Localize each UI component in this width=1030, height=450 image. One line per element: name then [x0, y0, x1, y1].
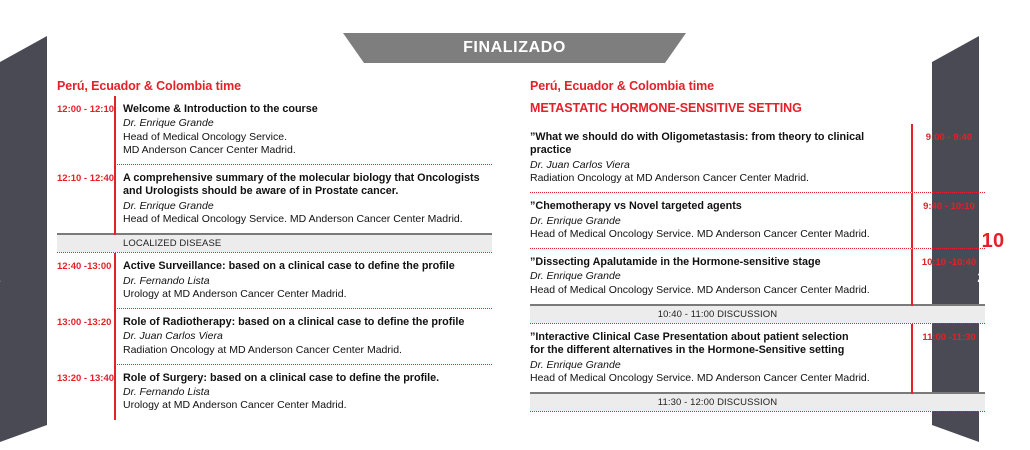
agenda-entry[interactable]: 13:00 -13:20 Role of Radiotherapy: based… — [57, 309, 492, 364]
agenda-entry[interactable]: 12:10 - 12:40 A comprehensive summary of… — [57, 165, 492, 233]
entry-time: 9:40 - 10:10 — [913, 193, 985, 248]
agenda-entry[interactable]: ”What we should do with Oligometastasis:… — [530, 124, 985, 192]
agenda-entry[interactable]: 12:00 - 12:10 Welcome & Introduction to … — [57, 96, 492, 164]
entry-speaker: Dr. Fernando Lista — [123, 386, 492, 399]
entry-title: Role of Surgery: based on a clinical cas… — [123, 372, 492, 385]
entry-time: 9:00 - 9:40 — [913, 124, 985, 192]
entry-title: Active Surveillance: based on a clinical… — [123, 260, 492, 273]
entry-speaker: Dr. Enrique Grande — [530, 270, 903, 283]
discussion-band: 10:40 - 11:00 DISCUSSION — [530, 304, 985, 323]
entry-body: Welcome & Introduction to the course Dr.… — [123, 96, 492, 164]
entry-affiliation: Head of Medical Oncology Service. MD And… — [530, 372, 903, 385]
entry-time: 11:00 -11:30 — [913, 324, 985, 392]
entry-rule — [114, 96, 116, 164]
entry-body: Role of Surgery: based on a clinical cas… — [123, 365, 492, 420]
section-band-localized-disease: LOCALIZED DISEASE — [57, 233, 492, 252]
date-tab-left-text: 9 July 2021 — [0, 230, 58, 286]
date-tab-left-day: 9 — [0, 230, 32, 252]
section-heading-metastatic: METASTATIC HORMONE-SENSITIVE SETTING — [530, 100, 985, 116]
entry-rule — [114, 165, 116, 233]
agenda-column-day-9: Perú, Ecuador & Colombia time 12:00 - 12… — [57, 78, 492, 420]
entry-speaker: Dr. Fernando Lista — [123, 275, 492, 288]
entry-time: 10:10 -10:40 — [913, 249, 985, 304]
entry-body: ”Interactive Clinical Case Presentation … — [530, 324, 911, 392]
entry-speaker: Dr. Enrique Grande — [123, 200, 492, 213]
date-tab-left-month: July — [0, 253, 32, 269]
section-band-label: LOCALIZED DISEASE — [123, 238, 221, 249]
entry-time: 12:00 - 12:10 — [57, 96, 114, 164]
entry-speaker: Dr. Enrique Grande — [123, 117, 492, 130]
agenda-entry[interactable]: ”Interactive Clinical Case Presentation … — [530, 324, 985, 392]
discussion-band: 11:30 - 12:00 DISCUSSION — [530, 392, 985, 411]
entry-affiliation: MD Anderson Cancer Center Madrid. — [123, 144, 492, 157]
entry-time: 13:00 -13:20 — [57, 309, 114, 364]
entry-body: Role of Radiotherapy: based on a clinica… — [123, 309, 492, 364]
status-banner: FINALIZADO — [343, 33, 686, 63]
entry-title: for the different alternatives in the Ho… — [530, 344, 903, 357]
entry-title: Role of Radiotherapy: based on a clinica… — [123, 316, 492, 329]
timezone-heading-left: Perú, Ecuador & Colombia time — [57, 78, 492, 94]
discussion-band-label: 11:30 - 12:00 DISCUSSION — [658, 397, 777, 408]
entry-title: ”Dissecting Apalutamide in the Hormone-s… — [530, 256, 903, 269]
entry-time: 12:10 - 12:40 — [57, 165, 114, 233]
entry-body: ”What we should do with Oligometastasis:… — [530, 124, 911, 192]
entry-speaker: Dr. Juan Carlos Viera — [123, 330, 492, 343]
agenda-entry[interactable]: 12:40 -13:00 Active Surveillance: based … — [57, 253, 492, 308]
entry-separator — [530, 411, 985, 412]
entry-speaker: Dr. Juan Carlos Viera — [530, 159, 903, 172]
entry-speaker: Dr. Enrique Grande — [530, 359, 903, 372]
entry-affiliation: Urology at MD Anderson Cancer Center Mad… — [123, 399, 492, 412]
entry-affiliation: Radiation Oncology at MD Anderson Cancer… — [123, 344, 492, 357]
discussion-band-rule-stub — [911, 300, 913, 306]
entry-affiliation: Head of Medical Oncology Service. — [123, 131, 492, 144]
entry-affiliation: Head of Medical Oncology Service. MD And… — [530, 228, 903, 241]
entry-body: A comprehensive summary of the molecular… — [123, 165, 492, 233]
entry-affiliation: Urology at MD Anderson Cancer Center Mad… — [123, 288, 492, 301]
entry-title: ”Interactive Clinical Case Presentation … — [530, 331, 903, 344]
agenda-entry[interactable]: ”Dissecting Apalutamide in the Hormone-s… — [530, 249, 985, 304]
entry-title: ”What we should do with Oligometastasis:… — [530, 131, 903, 158]
entry-affiliation: Radiation Oncology at MD Anderson Cancer… — [530, 172, 903, 185]
entry-affiliation: Head of Medical Oncology Service. MD And… — [530, 284, 903, 297]
agenda-entry[interactable]: 13:20 - 13:40 Role of Surgery: based on … — [57, 365, 492, 420]
discussion-band-label: 10:40 - 11:00 DISCUSSION — [658, 309, 777, 320]
entry-time: 13:20 - 13:40 — [57, 365, 114, 420]
section-band-rule-stub — [114, 229, 116, 235]
timezone-heading-right: Perú, Ecuador & Colombia time — [530, 78, 985, 94]
entry-title: Welcome & Introduction to the course — [123, 103, 492, 116]
entry-title: ”Chemotherapy vs Novel targeted agents — [530, 200, 903, 213]
entry-body: ”Dissecting Apalutamide in the Hormone-s… — [530, 249, 911, 304]
date-tab-left-year: 2021 — [0, 270, 32, 286]
discussion-band-rule-stub — [911, 388, 913, 394]
entry-speaker: Dr. Enrique Grande — [530, 215, 903, 228]
agenda-entry[interactable]: ”Chemotherapy vs Novel targeted agents D… — [530, 193, 985, 248]
entry-affiliation: Head of Medical Oncology Service. MD And… — [123, 213, 492, 226]
agenda-page: 9 July 2021 10 July 2021 FINALIZADO Perú… — [0, 0, 1030, 450]
entry-body: Active Surveillance: based on a clinical… — [123, 253, 492, 308]
entry-rule — [114, 365, 116, 420]
entry-rule — [114, 309, 116, 364]
entry-rule — [114, 253, 116, 308]
entry-title: A comprehensive summary of the molecular… — [123, 172, 492, 185]
agenda-column-day-10: Perú, Ecuador & Colombia time METASTATIC… — [530, 78, 985, 412]
entry-title: and Urologists should be aware of in Pro… — [123, 185, 492, 198]
entry-body: ”Chemotherapy vs Novel targeted agents D… — [530, 193, 911, 248]
entry-time: 12:40 -13:00 — [57, 253, 114, 308]
